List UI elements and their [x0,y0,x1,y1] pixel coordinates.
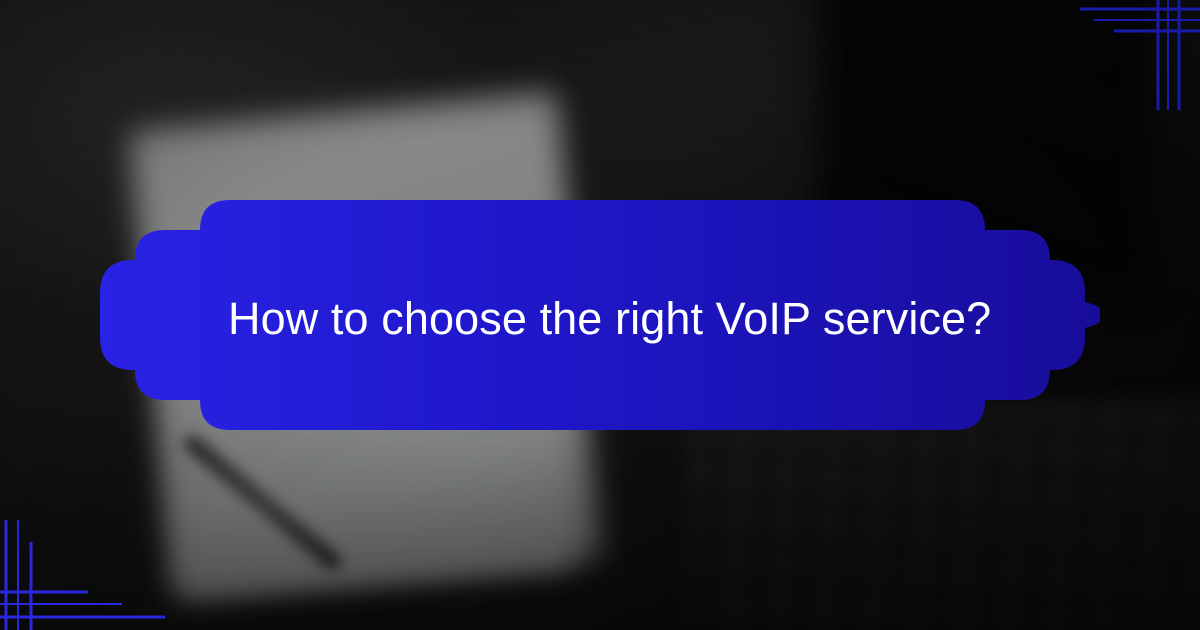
banner-card: How to choose the right VoIP service? [0,0,1200,630]
corner-rule-top-right [1080,0,1200,110]
corner-rule-top-right-lines [1080,0,1200,110]
page-title: How to choose the right VoIP service? [228,293,988,345]
title-banner: How to choose the right VoIP service? [100,190,1100,440]
corner-rule-bottom-left-lines [0,520,200,630]
corner-rule-bottom-left [0,520,200,630]
